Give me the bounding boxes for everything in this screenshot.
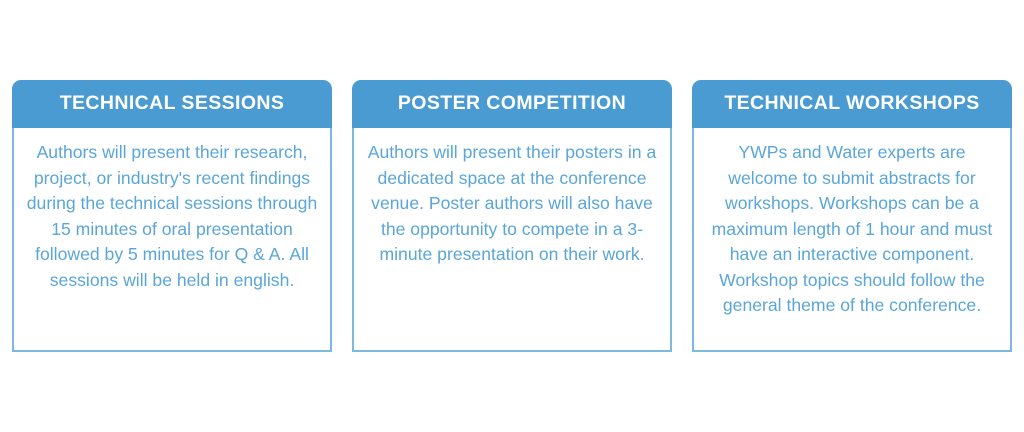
- card-title-technical-workshops: TECHNICAL WORKSHOPS: [692, 80, 1012, 128]
- card-description-technical-sessions: Authors will present their research, pro…: [26, 140, 318, 293]
- card-body-technical-sessions: Authors will present their research, pro…: [12, 128, 332, 352]
- card-title-technical-sessions: TECHNICAL SESSIONS: [12, 80, 332, 128]
- card-poster-competition: POSTER COMPETITION Authors will present …: [352, 80, 672, 352]
- info-cards-container: TECHNICAL SESSIONS Authors will present …: [12, 80, 1012, 352]
- card-technical-sessions: TECHNICAL SESSIONS Authors will present …: [12, 80, 332, 352]
- card-title-poster-competition: POSTER COMPETITION: [352, 80, 672, 128]
- card-body-technical-workshops: YWPs and Water experts are welcome to su…: [692, 128, 1012, 352]
- card-description-technical-workshops: YWPs and Water experts are welcome to su…: [706, 140, 998, 319]
- card-description-poster-competition: Authors will present their posters in a …: [366, 140, 658, 268]
- card-body-poster-competition: Authors will present their posters in a …: [352, 128, 672, 352]
- card-technical-workshops: TECHNICAL WORKSHOPS YWPs and Water exper…: [692, 80, 1012, 352]
